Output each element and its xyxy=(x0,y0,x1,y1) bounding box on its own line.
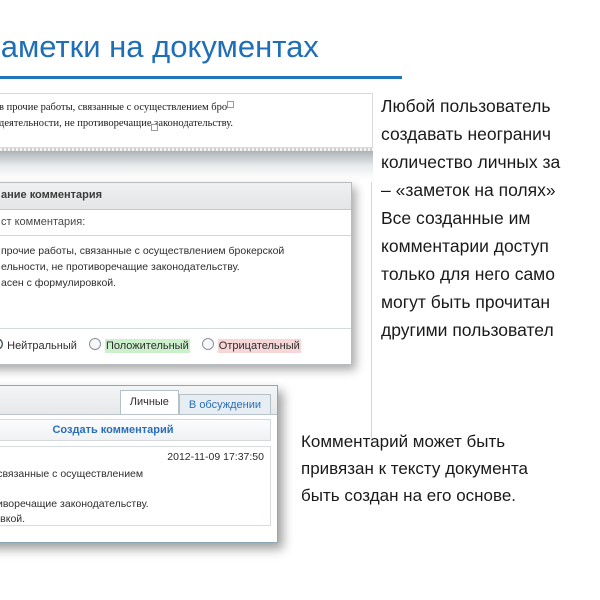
panel-separator-band xyxy=(0,148,373,182)
body-copy-top-line-1: Любой пользователь xyxy=(381,92,560,120)
comment-list-item[interactable]: 2012-11-09 17:37:50 в прочие работы, свя… xyxy=(0,446,271,526)
body-copy-top-line-5: Все созданные им xyxy=(381,204,560,232)
create-comment-button[interactable]: Создать комментарий xyxy=(0,419,271,441)
comment-textarea[interactable]: прочие работы, связанные с осуществление… xyxy=(1,243,331,291)
comment-item-text: в прочие работы, связанные с осуществлен… xyxy=(0,467,210,527)
document-line-1: в прочие работы, связанные с осуществлен… xyxy=(0,102,227,113)
comment-text-label: ст комментария: xyxy=(1,216,85,228)
tab-personal[interactable]: Личные xyxy=(120,390,179,414)
tone-option-positive-label: Положительный xyxy=(105,339,190,353)
tone-option-negative[interactable]: Отрицательный xyxy=(202,338,301,352)
body-copy-top-line-3: количество личных за xyxy=(381,148,560,176)
document-line-2: деятельности, не противоречащие законода… xyxy=(0,116,371,132)
dialog-footer-divider xyxy=(0,328,351,329)
body-copy-bottom-line-3: быть создан на его основе. xyxy=(301,482,528,509)
body-copy-top-line-9: другими пользовател xyxy=(381,316,560,344)
tone-option-positive[interactable]: Положительный xyxy=(89,338,190,352)
body-copy-top-line-2: создавать неогранич xyxy=(381,120,560,148)
comments-panel: нтарии ЛичныеВ обсуждении Создать коммен… xyxy=(0,385,278,543)
body-copy-top-line-6: комментарии доступ xyxy=(381,232,560,260)
body-copy-bottom: Комментарий может быть привязан к тексту… xyxy=(301,428,528,509)
comment-timestamp: 2012-11-09 17:37:50 xyxy=(167,451,264,463)
document-panel: в прочие работы, связанные с осуществлен… xyxy=(0,93,373,148)
slide: Заметки на документах в прочие работы, с… xyxy=(0,0,600,600)
body-copy-top-line-8: могут быть прочитан xyxy=(381,288,560,316)
dialog-divider xyxy=(0,235,351,236)
body-copy-bottom-line-2: привязан к тексту документа xyxy=(301,455,528,482)
comment-body-line-1: прочие работы, связанные с осуществление… xyxy=(1,243,331,259)
radio-neutral-icon[interactable] xyxy=(0,338,3,350)
radio-negative-icon[interactable] xyxy=(202,338,214,350)
body-copy-top: Любой пользователь создавать неогранич к… xyxy=(381,92,560,344)
comment-item-line-1: в прочие работы, связанные с осуществлен… xyxy=(0,467,210,482)
comment-item-line-4: асен с формулировкой. xyxy=(0,512,210,527)
body-copy-top-line-7: только для него само xyxy=(381,260,560,288)
comment-item-line-2: ерской xyxy=(0,482,210,497)
tab-in-discussion[interactable]: В обсуждении xyxy=(179,394,271,414)
tone-option-negative-label: Отрицательный xyxy=(218,339,301,353)
comment-body-line-3: асен с формулировкой. xyxy=(1,275,331,291)
comment-body-line-2: ельности, не противоречащие законодатель… xyxy=(1,259,331,275)
create-comment-dialog: ание комментария ст комментария: прочие … xyxy=(0,182,352,365)
create-comment-label: Создать комментарий xyxy=(52,424,173,436)
tone-option-neutral[interactable]: Нейтральный xyxy=(0,338,77,352)
body-copy-bottom-line-1: Комментарий может быть xyxy=(301,428,528,455)
panel-separator-hatch xyxy=(0,148,373,151)
anchor-marker-2-icon xyxy=(151,124,158,131)
document-text: в прочие работы, связанные с осуществлен… xyxy=(0,100,371,132)
tone-radio-group: нок: Нейтральный Положительный Отрицател… xyxy=(0,338,351,356)
body-copy-top-line-4: – «заметок на полях» xyxy=(381,176,560,204)
anchor-marker-icon xyxy=(227,101,234,108)
comment-item-line-3: ельности, не противоречащие законодатель… xyxy=(0,497,210,512)
comments-tabs: ЛичныеВ обсуждении xyxy=(120,390,271,414)
dialog-title: ание комментария xyxy=(1,189,102,201)
tone-option-neutral-label: Нейтральный xyxy=(7,340,77,352)
radio-positive-icon[interactable] xyxy=(89,338,101,350)
